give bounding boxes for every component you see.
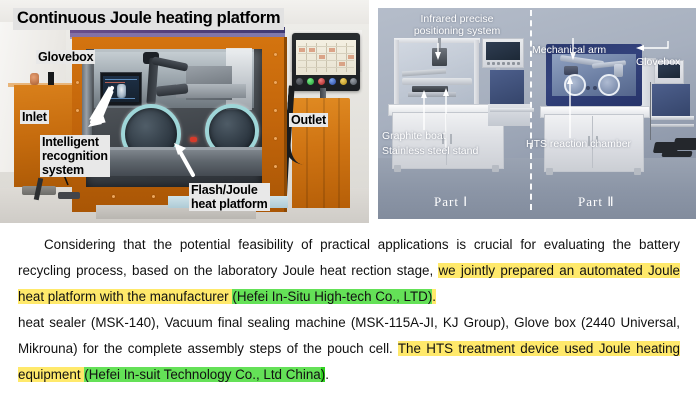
photo-arrows [0, 0, 369, 223]
label-hts-reaction-chamber: HTS reaction chamber [526, 138, 631, 150]
continuous-joule-heating-platform-photo: Glovebox Inlet Outlet Intelligent recogn… [0, 0, 369, 223]
label-flash-joule-heat-platform: Flash/Joule heat platform [189, 183, 270, 211]
figure-container: Glovebox Inlet Outlet Intelligent recogn… [0, 0, 700, 420]
p1-seg-3: . [432, 289, 436, 304]
p2-seg-4: . [325, 367, 329, 382]
label-infrared-precise-positioning-system: Infrared precise positioning system [402, 13, 512, 37]
label-glovebox: Glovebox [36, 50, 95, 64]
figure-title: Continuous Joule heating platform [13, 8, 284, 30]
label-glovebox-render: Glovebox [636, 56, 680, 68]
label-mechanical-arm: Mechanical arm [532, 44, 606, 56]
caption-part-1: Part Ⅰ [434, 194, 468, 210]
render-leader-lines [378, 8, 696, 219]
p1-seg-2: (Hefei In-Situ High-tech Co., LTD) [232, 289, 432, 304]
paragraph-1: Considering that the potential feasibili… [18, 232, 680, 310]
label-stainless-steel-stand: Stainless steel stand [382, 145, 478, 157]
p2-seg-2: (Hefei In-suit Technology Co., Ltd China [84, 367, 320, 382]
label-outlet: Outlet [289, 113, 328, 127]
paragraph-2: heat sealer (MSK-140), Vacuum final seal… [18, 310, 680, 388]
body-text: Considering that the potential feasibili… [18, 232, 680, 388]
label-intelligent-recognition-system: Intelligent recognition system [40, 135, 110, 177]
caption-part-2: Part Ⅱ [578, 194, 615, 210]
label-graphite-boat: Graphite boat [382, 130, 446, 142]
label-inlet: Inlet [20, 110, 49, 124]
equipment-3d-render: Infrared precise positioning system Grap… [378, 8, 696, 219]
